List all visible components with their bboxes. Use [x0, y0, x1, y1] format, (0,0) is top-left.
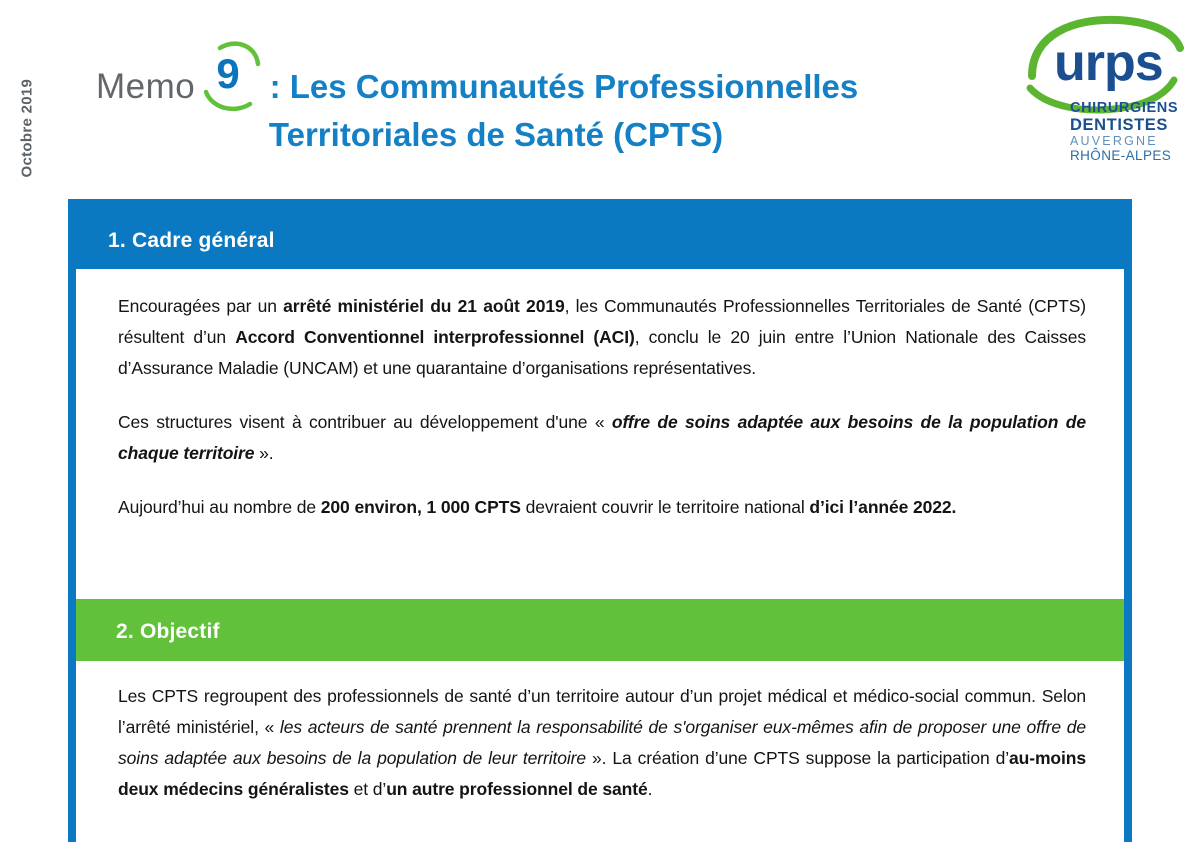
- content-inner: 1. Cadre général Encouragées par un arrê…: [76, 199, 1124, 842]
- paragraph-2: Ces structures visent à contribuer au dé…: [118, 407, 1086, 469]
- title-text-line-2: Territoriales de Santé (CPTS): [269, 116, 723, 153]
- title-line-1: Memo 9 : Les Communautés Professionnelle…: [96, 58, 1016, 111]
- section-heading-cadre-general: 1. Cadre général: [68, 199, 1132, 269]
- svg-text:AUVERGNE: AUVERGNE: [1070, 134, 1158, 148]
- content-frame: 1. Cadre général Encouragées par un arrê…: [68, 199, 1132, 842]
- title-separator: :: [260, 68, 289, 105]
- svg-text:DENTISTES: DENTISTES: [1070, 116, 1168, 134]
- paragraph-3: Aujourd’hui au nombre de 200 environ, 1 …: [118, 492, 1086, 523]
- title-text-line-1: Les Communautés Professionnelles: [290, 68, 859, 105]
- memo-number: 9: [216, 52, 239, 96]
- svg-text:urps: urps: [1054, 34, 1163, 92]
- section-2-heading-text: 2. Objectif: [116, 620, 220, 643]
- paragraph-4: Les CPTS regroupent des professionnels d…: [118, 681, 1086, 805]
- svg-text:CHIRURGIENS: CHIRURGIENS: [1070, 100, 1178, 116]
- paragraph-1: Encouragées par un arrêté ministériel du…: [118, 291, 1086, 384]
- memo-number-badge: 9: [204, 58, 260, 102]
- section-1-body: Encouragées par un arrêté ministériel du…: [76, 269, 1124, 599]
- document-header: Memo 9 : Les Communautés Professionnelle…: [0, 0, 1200, 190]
- memo-word: Memo: [96, 67, 195, 106]
- section-heading-objectif: 2. Objectif: [76, 599, 1124, 661]
- urps-logo: urps CHIRURGIENS DENTISTES AUVERGNE RHÔN…: [1022, 14, 1184, 162]
- title-line-2: Territoriales de Santé (CPTS): [96, 111, 1016, 159]
- section-2-body: Les CPTS regroupent des professionnels d…: [76, 661, 1124, 842]
- section-1-heading-text: 1. Cadre général: [108, 229, 275, 252]
- page-title: Memo 9 : Les Communautés Professionnelle…: [96, 58, 1016, 159]
- urps-logo-icon: urps CHIRURGIENS DENTISTES AUVERGNE RHÔN…: [1022, 14, 1184, 162]
- svg-text:RHÔNE-ALPES: RHÔNE-ALPES: [1070, 148, 1171, 162]
